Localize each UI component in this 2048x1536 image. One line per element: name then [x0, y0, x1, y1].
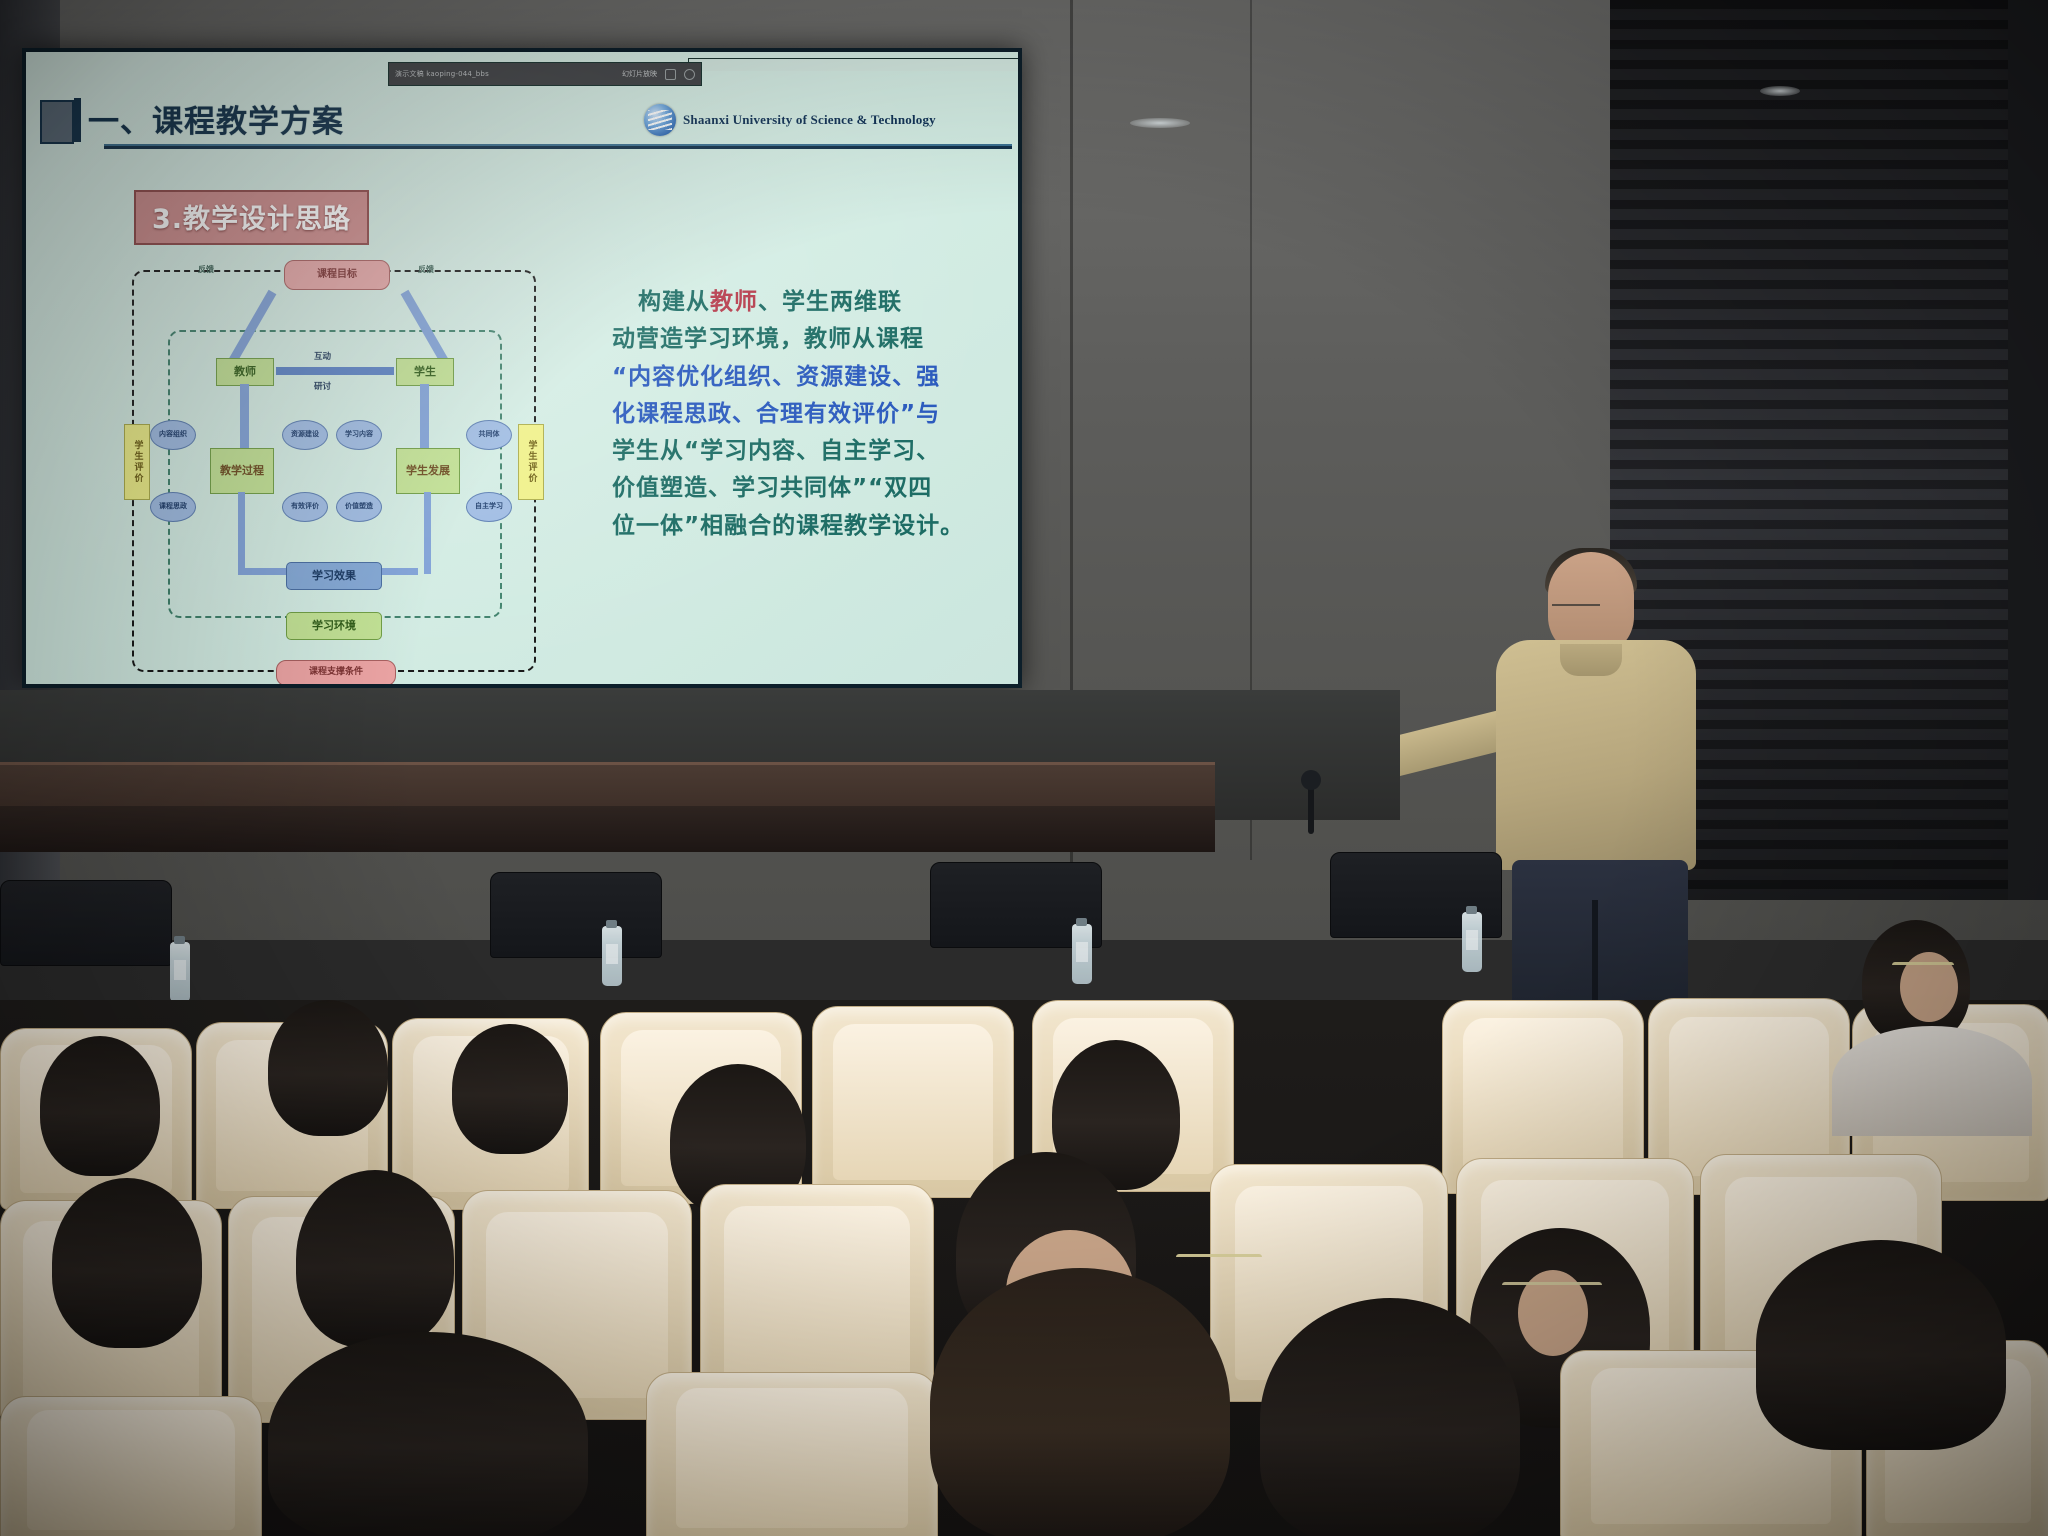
arrow-teacher-to-process — [240, 384, 249, 450]
title-underline-highlight — [104, 144, 1012, 146]
audience-head — [930, 1268, 1230, 1536]
audience-seat — [646, 1372, 938, 1536]
water-bottle[interactable] — [1462, 912, 1482, 972]
label-discussion: 研讨 — [314, 380, 331, 392]
audience-head — [1260, 1298, 1520, 1536]
label-interaction: 互动 — [314, 350, 331, 362]
satellite-community: 共同体 — [466, 420, 512, 450]
audience-head — [268, 1000, 388, 1136]
bottle-cap-icon — [606, 920, 617, 928]
body-line: “内容优化组织、资源建设、强 — [612, 359, 1018, 396]
arrow-develop-to-effect — [424, 492, 431, 574]
glasses-icon — [1892, 962, 1954, 972]
body-line: 化课程思政、合理有效评价”与 — [612, 396, 1018, 433]
satellite-autonomous-learning: 自主学习 — [466, 492, 512, 522]
node-evaluation-left: 学生评价 — [124, 424, 150, 500]
body-line: 动营造学习环境，教师从课程 — [612, 321, 1018, 358]
body-line: 学生从“学习内容、自主学习、 — [612, 433, 1018, 470]
title-square-decor — [40, 100, 74, 144]
arrow-teacher-student — [276, 367, 394, 375]
microphone-icon — [1301, 770, 1321, 790]
university-logo: Shaanxi University of Science & Technolo… — [644, 104, 936, 136]
audience-head — [1756, 1240, 2006, 1450]
node-student: 学生 — [396, 358, 454, 386]
label-feedback-right: 反馈 — [418, 264, 434, 275]
node-support-conditions: 课程支撑条件 — [276, 660, 396, 684]
panel-chair — [0, 880, 172, 966]
satellite-effective-evaluation: 有效评价 — [282, 492, 328, 522]
lecture-hall-scene: 演示文稿 kaoping-044_bbs 幻灯片放映 一、课程教学方案 Shaa… — [0, 0, 2048, 1536]
audience-head — [52, 1178, 202, 1348]
water-bottle[interactable] — [1072, 924, 1092, 984]
audience-head — [296, 1170, 454, 1348]
satellite-content-organization: 内容组织 — [150, 420, 196, 450]
body-line: 价值塑造、学习共同体”“双四 — [612, 470, 1018, 507]
node-teacher: 教师 — [216, 358, 274, 386]
body-line: 位一体”相融合的课程教学设计。 — [612, 508, 1018, 545]
audience-seat — [0, 1396, 262, 1536]
node-learning-environment: 学习环境 — [286, 612, 382, 640]
section-badge-label: 3.教学设计思路 — [152, 204, 351, 235]
arrow-student-to-develop — [420, 384, 429, 450]
presenter-glasses — [1552, 604, 1600, 616]
audience-shoulders — [1832, 1026, 2032, 1136]
slide-body-text: 构建从教师、学生两维联动营造学习环境，教师从课程“内容优化组织、资源建设、强化课… — [612, 284, 1018, 545]
ceiling-light — [1130, 118, 1190, 128]
audience-head — [452, 1024, 568, 1154]
satellite-course-ideology: 课程思政 — [150, 492, 196, 522]
node-teaching-process: 教学过程 — [210, 448, 274, 494]
satellite-learning-content: 学习内容 — [336, 420, 382, 450]
course-design-diagram: 反馈 反馈 课程目标 教师 学生 互动 研讨 教学过程 学生发展 — [118, 252, 548, 682]
section-badge: 3.教学设计思路 — [134, 190, 369, 245]
university-globe-logo-icon — [644, 104, 676, 136]
node-teaching-process-label: 教学过程 — [220, 465, 264, 477]
panel-chair — [490, 872, 662, 958]
audience-seat — [812, 1006, 1014, 1198]
ppt-view-label: 幻灯片放映 — [622, 69, 657, 79]
glasses-icon — [1502, 1282, 1602, 1292]
projected-slide: 演示文稿 kaoping-044_bbs 幻灯片放映 一、课程教学方案 Shaa… — [26, 52, 1018, 684]
satellite-resource-construction: 资源建设 — [282, 420, 328, 450]
node-course-goal: 课程目标 — [284, 260, 390, 290]
save-icon[interactable] — [665, 69, 676, 80]
body-line: 构建从教师、学生两维联 — [612, 284, 1018, 321]
satellite-value-shaping: 价值塑造 — [336, 492, 382, 522]
node-evaluation-right: 学生评价 — [518, 424, 544, 500]
university-name: Shaanxi University of Science & Technolo… — [683, 112, 936, 128]
water-bottle[interactable] — [602, 926, 622, 986]
panel-table-front — [0, 806, 1215, 852]
node-student-development-label: 学生发展 — [406, 465, 450, 477]
ppt-file-label: 演示文稿 kaoping-044_bbs — [395, 69, 489, 79]
ceiling-light — [1760, 86, 1800, 96]
ppt-window-strip — [688, 58, 1018, 71]
ppt-toolbar[interactable]: 演示文稿 kaoping-044_bbs 幻灯片放映 — [388, 62, 702, 86]
audience-head — [268, 1332, 588, 1536]
arrow-process-to-effect — [238, 492, 245, 574]
bottle-cap-icon — [1466, 906, 1477, 914]
page-title: 一、课程教学方案 — [88, 96, 344, 141]
node-learning-effect: 学习效果 — [286, 562, 382, 590]
bottle-cap-icon — [174, 936, 185, 944]
search-icon[interactable] — [684, 69, 695, 80]
water-bottle[interactable] — [170, 942, 190, 1002]
label-feedback-left: 反馈 — [198, 264, 214, 275]
audience-head — [40, 1036, 160, 1176]
presenter-collar — [1560, 644, 1622, 676]
title-bar-decor — [74, 98, 81, 142]
bottle-cap-icon — [1076, 918, 1087, 926]
node-student-development: 学生发展 — [396, 448, 460, 494]
right-wall-panel — [2008, 0, 2048, 900]
glasses-icon — [1176, 1254, 1262, 1264]
